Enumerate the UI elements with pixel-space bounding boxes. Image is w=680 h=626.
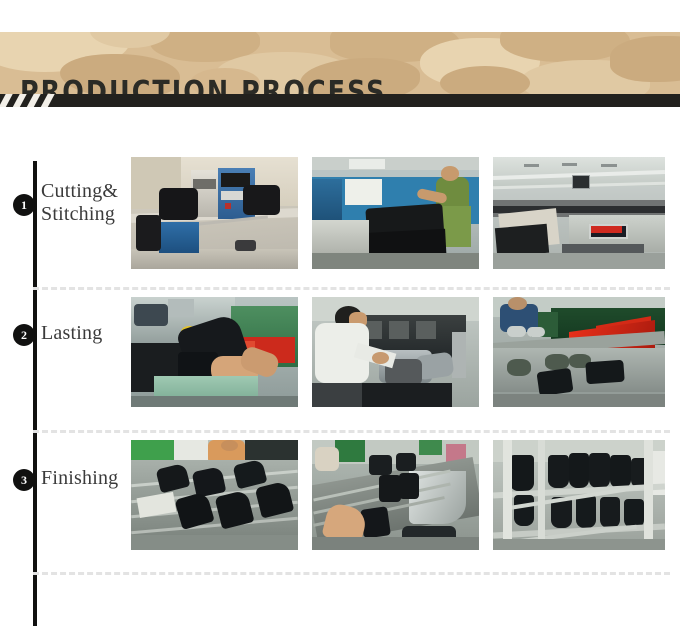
photo-worker-at-cutting-press[interactable] bbox=[312, 157, 479, 269]
step-marker-3: 3 bbox=[13, 469, 35, 491]
step-label-1-line-1: Cutting& bbox=[41, 180, 118, 203]
photo-heated-conveyor-line[interactable] bbox=[493, 297, 665, 407]
photo-hands-lasting-boot[interactable] bbox=[131, 297, 298, 407]
step-label-3-line-1: Finishing bbox=[41, 467, 118, 490]
photo-finished-boots-on-rack[interactable] bbox=[493, 440, 665, 550]
step-label-3: Finishing bbox=[41, 467, 118, 490]
step-label-1-line-2: Stitching bbox=[41, 203, 118, 226]
diagonal-stripes-decoration bbox=[0, 94, 66, 107]
step-label-2: Lasting bbox=[41, 322, 102, 345]
row-separator-3 bbox=[33, 572, 670, 575]
process-step-row-1: 1 Cutting& Stitching bbox=[0, 152, 680, 292]
photo-cutting-machine-workbench[interactable] bbox=[131, 157, 298, 269]
photo-stitching-production-line[interactable] bbox=[493, 157, 665, 269]
production-process-page: PRODUCTION PROCESS 1 Cutting& Stitching bbox=[0, 0, 680, 607]
page-header-banner: PRODUCTION PROCESS bbox=[0, 32, 680, 94]
photo-worker-operating-lasting-machine[interactable] bbox=[312, 297, 479, 407]
process-steps-container: 1 Cutting& Stitching 2 Lasting bbox=[0, 107, 680, 607]
photo-finishing-conveyor-hand[interactable] bbox=[312, 440, 479, 550]
step-marker-2: 2 bbox=[13, 324, 35, 346]
header-accent-bar bbox=[0, 94, 680, 107]
process-step-row-3: 3 Finishing bbox=[0, 435, 680, 575]
process-step-row-2: 2 Lasting bbox=[0, 292, 680, 432]
row-separator-1 bbox=[33, 287, 670, 290]
step-marker-1: 1 bbox=[13, 194, 35, 216]
step-label-1: Cutting& Stitching bbox=[41, 180, 118, 226]
row-separator-2 bbox=[33, 430, 670, 433]
step-label-2-line-1: Lasting bbox=[41, 322, 102, 345]
page-title: PRODUCTION PROCESS bbox=[20, 78, 386, 94]
photo-boots-on-roller-conveyor[interactable] bbox=[131, 440, 298, 550]
